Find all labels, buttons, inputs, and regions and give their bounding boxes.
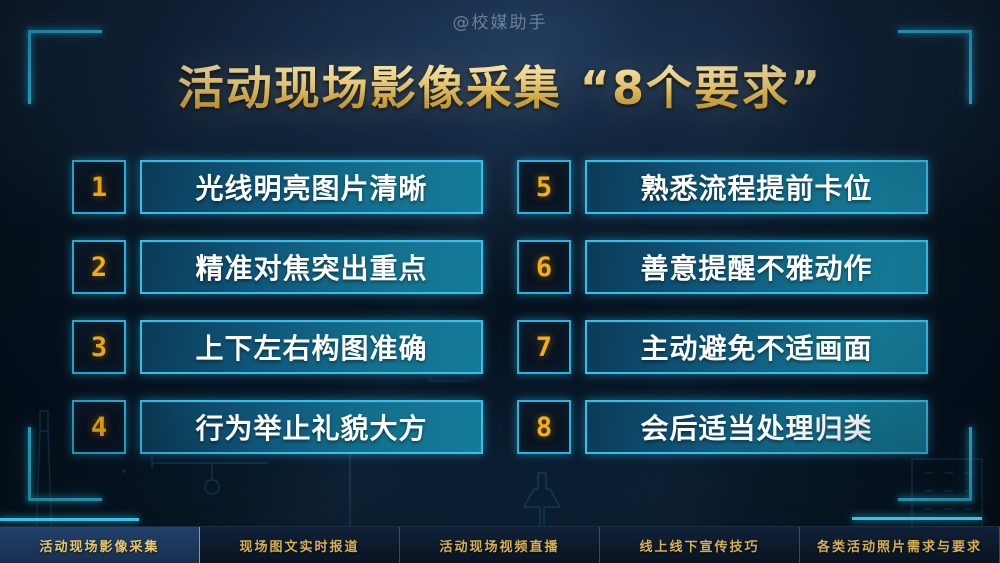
requirement-label: 行为举止礼貌大方 — [140, 400, 483, 454]
requirement-item-8[interactable]: 8 会后适当处理归类 — [517, 400, 928, 454]
requirement-label: 光线明亮图片清晰 — [140, 160, 483, 214]
tab-live-text-photo-report[interactable]: 现场图文实时报道 — [200, 527, 400, 563]
tab-photo-requirements[interactable]: 各类活动照片需求与要求 — [800, 527, 1000, 563]
requirement-number-badge: 3 — [72, 320, 126, 374]
requirement-item-6[interactable]: 6 善意提醒不雅动作 — [517, 240, 928, 294]
requirement-item-2[interactable]: 2 精准对焦突出重点 — [72, 240, 483, 294]
page-title: 活动现场影像采集 “8个要求” — [0, 52, 1000, 118]
requirement-label: 会后适当处理归类 — [585, 400, 928, 454]
slide-canvas: @校媒助手 活动现场影像采集 “8个要求” 1 光线明亮图片清晰 5 熟悉流程提… — [0, 0, 1000, 563]
requirement-item-4[interactable]: 4 行为举止礼貌大方 — [72, 400, 483, 454]
requirements-grid: 1 光线明亮图片清晰 5 熟悉流程提前卡位 2 精准对焦突出重点 6 善意提醒不… — [72, 160, 928, 454]
requirement-item-1[interactable]: 1 光线明亮图片清晰 — [72, 160, 483, 214]
requirement-label: 上下左右构图准确 — [140, 320, 483, 374]
section-tabbar: 活动现场影像采集 现场图文实时报道 活动现场视频直播 线上线下宣传技巧 各类活动… — [0, 526, 1000, 563]
requirement-number-badge: 8 — [517, 400, 571, 454]
requirement-number-badge: 5 — [517, 160, 571, 214]
page-title-text: 活动现场影像采集 “8个要求” — [178, 52, 823, 118]
requirement-number-badge: 2 — [72, 240, 126, 294]
tab-online-offline-promo[interactable]: 线上线下宣传技巧 — [600, 527, 800, 563]
requirement-label: 精准对焦突出重点 — [140, 240, 483, 294]
requirement-label: 善意提醒不雅动作 — [585, 240, 928, 294]
tab-live-video-stream[interactable]: 活动现场视频直播 — [400, 527, 600, 563]
requirement-item-3[interactable]: 3 上下左右构图准确 — [72, 320, 483, 374]
requirement-label: 熟悉流程提前卡位 — [585, 160, 928, 214]
requirement-number-badge: 6 — [517, 240, 571, 294]
tabbar-accent-line — [852, 517, 982, 520]
tab-activity-image-capture[interactable]: 活动现场影像采集 — [0, 527, 200, 563]
requirement-number-badge: 1 — [72, 160, 126, 214]
requirement-item-7[interactable]: 7 主动避免不适画面 — [517, 320, 928, 374]
requirement-item-5[interactable]: 5 熟悉流程提前卡位 — [517, 160, 928, 214]
requirement-label: 主动避免不适画面 — [585, 320, 928, 374]
requirement-number-badge: 7 — [517, 320, 571, 374]
watermark: @校媒助手 — [0, 8, 1000, 33]
requirement-number-badge: 4 — [72, 400, 126, 454]
